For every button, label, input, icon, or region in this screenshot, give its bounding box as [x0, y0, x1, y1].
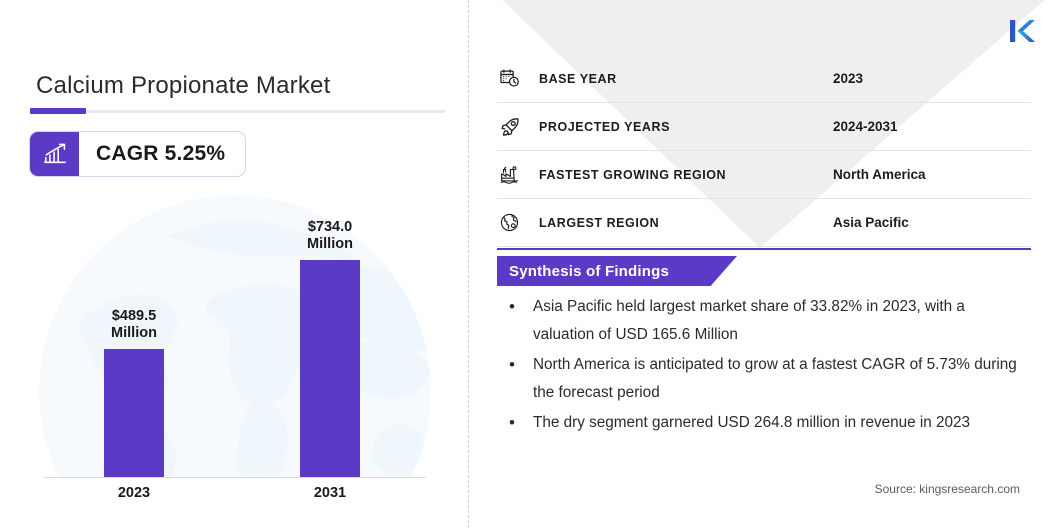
- category-label-2023: 2023: [94, 485, 174, 501]
- list-item: • The dry segment garnered USD 264.8 mil…: [501, 409, 1026, 437]
- list-item: • Asia Pacific held largest market share…: [501, 293, 1026, 349]
- kings-research-logo: [1005, 14, 1039, 48]
- bar-2023: [104, 349, 164, 477]
- bullet-glyph: •: [501, 351, 533, 379]
- calendar-clock-icon: [497, 68, 539, 89]
- chart-x-axis: [44, 477, 426, 478]
- fact-label: FASTEST GROWING REGION: [539, 168, 833, 182]
- bar-label-2023: $489.5 Million: [94, 308, 174, 341]
- bar-2031: [300, 260, 360, 477]
- finding-text: The dry segment garnered USD 264.8 milli…: [533, 409, 1026, 437]
- synthesis-heading: Synthesis of Findings: [497, 263, 669, 280]
- title-rule: [30, 110, 445, 113]
- list-item: • North America is anticipated to grow a…: [501, 351, 1026, 407]
- fact-label: BASE YEAR: [539, 72, 833, 86]
- page-title: Calcium Propionate Market: [36, 72, 330, 100]
- fact-value: 2024-2031: [833, 119, 1031, 134]
- findings-list: • Asia Pacific held largest market share…: [501, 293, 1026, 439]
- source-attribution: Source: kingsresearch.com: [875, 482, 1020, 496]
- fact-label: PROJECTED YEARS: [539, 120, 833, 134]
- bullet-glyph: •: [501, 293, 533, 321]
- fact-value: North America: [833, 167, 1031, 182]
- cagr-value: CAGR 5.25%: [79, 132, 245, 176]
- bullet-glyph: •: [501, 409, 533, 437]
- left-panel: Calcium Propionate Market CAGR 5.25%: [0, 0, 468, 528]
- bar-chart-growth-icon: [30, 132, 79, 176]
- synthesis-heading-banner: Synthesis of Findings: [497, 256, 737, 286]
- cagr-badge: CAGR 5.25%: [29, 131, 246, 177]
- market-size-bar-chart: $489.5 Million $734.0 Million 2023 2031: [30, 190, 440, 490]
- bar-label-2031: $734.0 Million: [290, 219, 370, 252]
- synthesis-top-rule: [497, 248, 1031, 250]
- factory-icon: [497, 164, 539, 185]
- title-rule-accent: [30, 108, 86, 114]
- table-row: LARGEST REGION Asia Pacific: [497, 199, 1031, 247]
- fact-value: Asia Pacific: [833, 215, 1031, 230]
- table-row: FASTEST GROWING REGION North America: [497, 151, 1031, 199]
- infographic-root: Calcium Propionate Market CAGR 5.25%: [0, 0, 1056, 528]
- rocket-icon: [497, 116, 539, 138]
- market-facts-table: BASE YEAR 2023 PROJECTED YEA: [497, 55, 1031, 247]
- finding-text: North America is anticipated to grow at …: [533, 351, 1026, 407]
- table-row: PROJECTED YEARS 2024-2031: [497, 103, 1031, 151]
- category-label-2031: 2031: [290, 485, 370, 501]
- table-row: BASE YEAR 2023: [497, 55, 1031, 103]
- right-panel: BASE YEAR 2023 PROJECTED YEA: [468, 0, 1056, 528]
- globe-icon: [497, 212, 539, 233]
- chart-plot-area: $489.5 Million $734.0 Million: [30, 190, 440, 478]
- fact-label: LARGEST REGION: [539, 216, 833, 230]
- finding-text: Asia Pacific held largest market share o…: [533, 293, 1026, 349]
- fact-value: 2023: [833, 71, 1031, 86]
